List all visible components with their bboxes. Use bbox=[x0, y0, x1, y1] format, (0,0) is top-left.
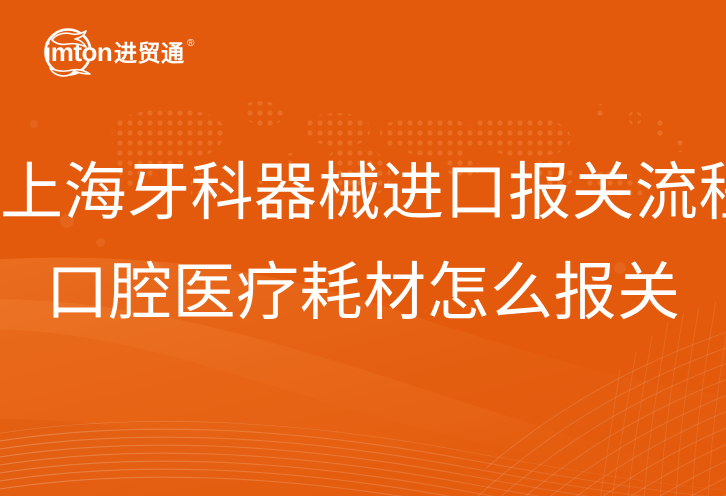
brand-logo-svg: imton 进贸通 ® bbox=[22, 24, 212, 80]
headline-block: 上海牙科器械进口报关流程 口腔医疗耗材怎么报关 bbox=[0, 150, 726, 336]
logo-chinese-name: 进贸通 bbox=[114, 40, 185, 66]
promo-banner: imton 进贸通 ® 上海牙科器械进口报关流程 口腔医疗耗材怎么报关 bbox=[0, 0, 726, 496]
brand-logo[interactable]: imton 进贸通 ® bbox=[22, 24, 212, 80]
headline-line-1: 上海牙科器械进口报关流程 bbox=[0, 150, 726, 236]
headline-line-2: 口腔医疗耗材怎么报关 bbox=[0, 250, 726, 336]
logo-wordmark: imton bbox=[44, 37, 112, 67]
trademark-icon: ® bbox=[187, 38, 195, 49]
